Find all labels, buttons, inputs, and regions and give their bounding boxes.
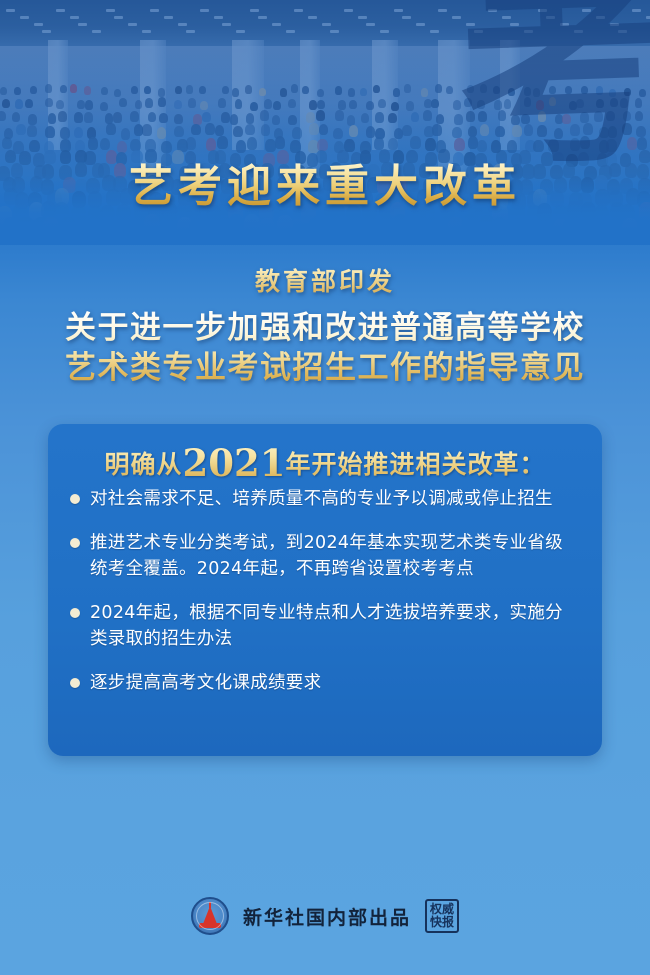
- document-title: 关于进一步加强和改进普通高等学校 艺术类专业考试招生工作的指导意见: [0, 308, 650, 389]
- bullet-dot-icon: [70, 494, 80, 504]
- card-heading: 明确从2021年开始推进相关改革：: [48, 441, 602, 485]
- reform-bullet-item: 逐步提高高考文化课成绩要求: [48, 670, 602, 697]
- bullet-dot-icon: [70, 608, 80, 618]
- kao-watermark-icon: 考: [454, 0, 650, 180]
- emblem-ring: [196, 902, 224, 930]
- poster-root: 考 艺考迎来重大改革 教育部印发 关于进一步加强和改进普通高等学校 艺术类专业考…: [0, 0, 650, 975]
- stamp-line-2: 快报: [430, 916, 454, 929]
- reform-bullet-item: 推进艺术专业分类考试，到2024年基本实现艺术类专业省级统考全覆盖。2024年起…: [48, 530, 602, 583]
- bullet-dot-icon: [70, 538, 80, 548]
- bullet-text: 逐步提高高考文化课成绩要求: [90, 673, 321, 693]
- bullet-text: 对社会需求不足、培养质量不高的专业予以调减或停止招生: [90, 489, 553, 509]
- reform-bullet-item: 2024年起，根据不同专业特点和人才选拔培养要求，实施分类录取的招生办法: [48, 600, 602, 653]
- page-title: 艺考迎来重大改革: [0, 163, 650, 211]
- reform-bullet-item: 对社会需求不足、培养质量不高的专业予以调减或停止招生: [48, 486, 602, 513]
- document-title-line-2: 艺术类专业考试招生工作的指导意见: [0, 348, 650, 388]
- xinhua-emblem-icon: [191, 897, 229, 935]
- reform-card: 明确从2021年开始推进相关改革： 对社会需求不足、培养质量不高的专业予以调减或…: [48, 424, 602, 756]
- document-title-line-1: 关于进一步加强和改进普通高等学校: [0, 308, 650, 348]
- bullet-text: 推进艺术专业分类考试，到2024年基本实现艺术类专业省级统考全覆盖。2024年起…: [90, 533, 563, 580]
- reform-bullet-list: 对社会需求不足、培养质量不高的专业予以调减或停止招生推进艺术专业分类考试，到20…: [48, 486, 602, 714]
- card-heading-suffix: 年开始推进相关改革：: [285, 450, 545, 479]
- bullet-text: 2024年起，根据不同专业特点和人才选拔培养要求，实施分类录取的招生办法: [90, 603, 563, 650]
- issuer-label: 教育部印发: [0, 262, 650, 298]
- card-heading-prefix: 明确从: [104, 450, 182, 479]
- authority-stamp-icon: 权威 快报: [425, 899, 459, 933]
- footer: 新华社国内部出品 权威 快报: [0, 888, 650, 944]
- bullet-dot-icon: [70, 678, 80, 688]
- agency-credit: 新华社国内部出品: [243, 903, 411, 930]
- card-heading-year: 2021: [183, 441, 286, 485]
